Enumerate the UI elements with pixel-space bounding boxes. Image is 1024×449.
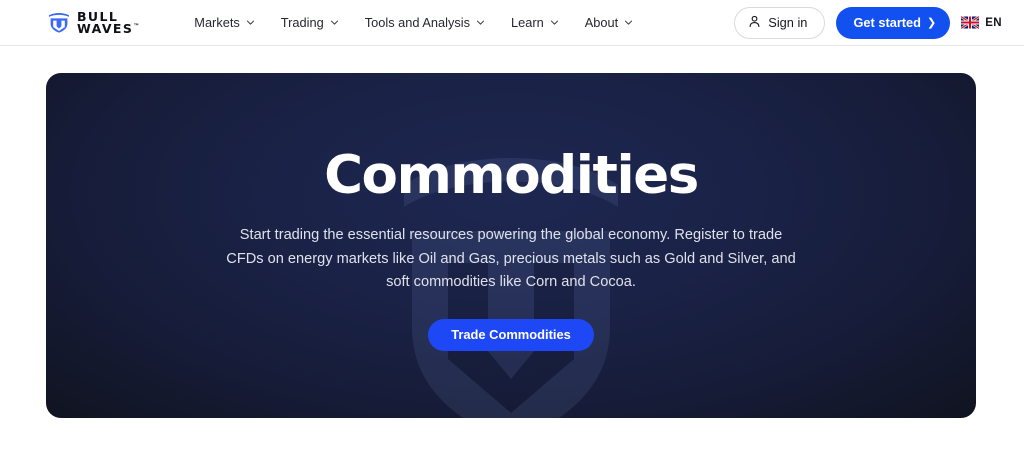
chevron-down-icon — [476, 15, 485, 30]
nav-item-tools-and-analysis[interactable]: Tools and Analysis — [352, 9, 498, 36]
nav-item-markets[interactable]: Markets — [181, 9, 268, 36]
nav-label: About — [585, 15, 618, 30]
trademark-symbol: ™ — [133, 22, 139, 29]
language-selector[interactable]: EN — [961, 16, 1002, 29]
nav-item-learn[interactable]: Learn — [498, 9, 572, 36]
hero-subtitle: Start trading the essential resources po… — [224, 224, 799, 295]
page-title: Commodities — [324, 149, 698, 202]
nav-label: Markets — [194, 15, 240, 30]
nav-label: Learn — [511, 15, 544, 30]
trade-commodities-button[interactable]: Trade Commodities — [428, 319, 594, 351]
get-started-label: Get started — [853, 15, 921, 30]
sign-in-button[interactable]: Sign in — [734, 7, 825, 39]
chevron-down-icon — [624, 15, 633, 30]
hero-content: Commodities Start trading the essential … — [46, 73, 976, 351]
get-started-button[interactable]: Get started ❯ — [836, 7, 950, 39]
logo-wordmark: BULL WAVES™ — [77, 11, 139, 34]
header-actions: Sign in Get started ❯ EN — [734, 7, 1002, 39]
language-code: EN — [985, 17, 1002, 29]
main-navigation: Markets Trading Tools and Analysis Learn — [181, 9, 646, 36]
site-header: BULL WAVES™ Markets Trading Tools and An… — [0, 0, 1024, 46]
bull-waves-shield-icon — [48, 12, 70, 33]
nav-item-about[interactable]: About — [572, 9, 646, 36]
sign-in-label: Sign in — [768, 15, 807, 30]
logo-line-2: WAVES™ — [77, 23, 139, 35]
chevron-down-icon — [330, 15, 339, 30]
uk-flag-icon — [961, 16, 979, 29]
hero-banner: Commodities Start trading the essential … — [46, 73, 976, 418]
nav-item-trading[interactable]: Trading — [268, 9, 352, 36]
chevron-down-icon — [246, 15, 255, 30]
nav-label: Trading — [281, 15, 324, 30]
chevron-down-icon — [550, 15, 559, 30]
logo[interactable]: BULL WAVES™ — [48, 11, 139, 34]
nav-label: Tools and Analysis — [365, 15, 470, 30]
chevron-right-icon: ❯ — [927, 16, 936, 29]
hero-section-wrapper: Commodities Start trading the essential … — [0, 46, 1024, 418]
user-icon — [748, 15, 761, 31]
